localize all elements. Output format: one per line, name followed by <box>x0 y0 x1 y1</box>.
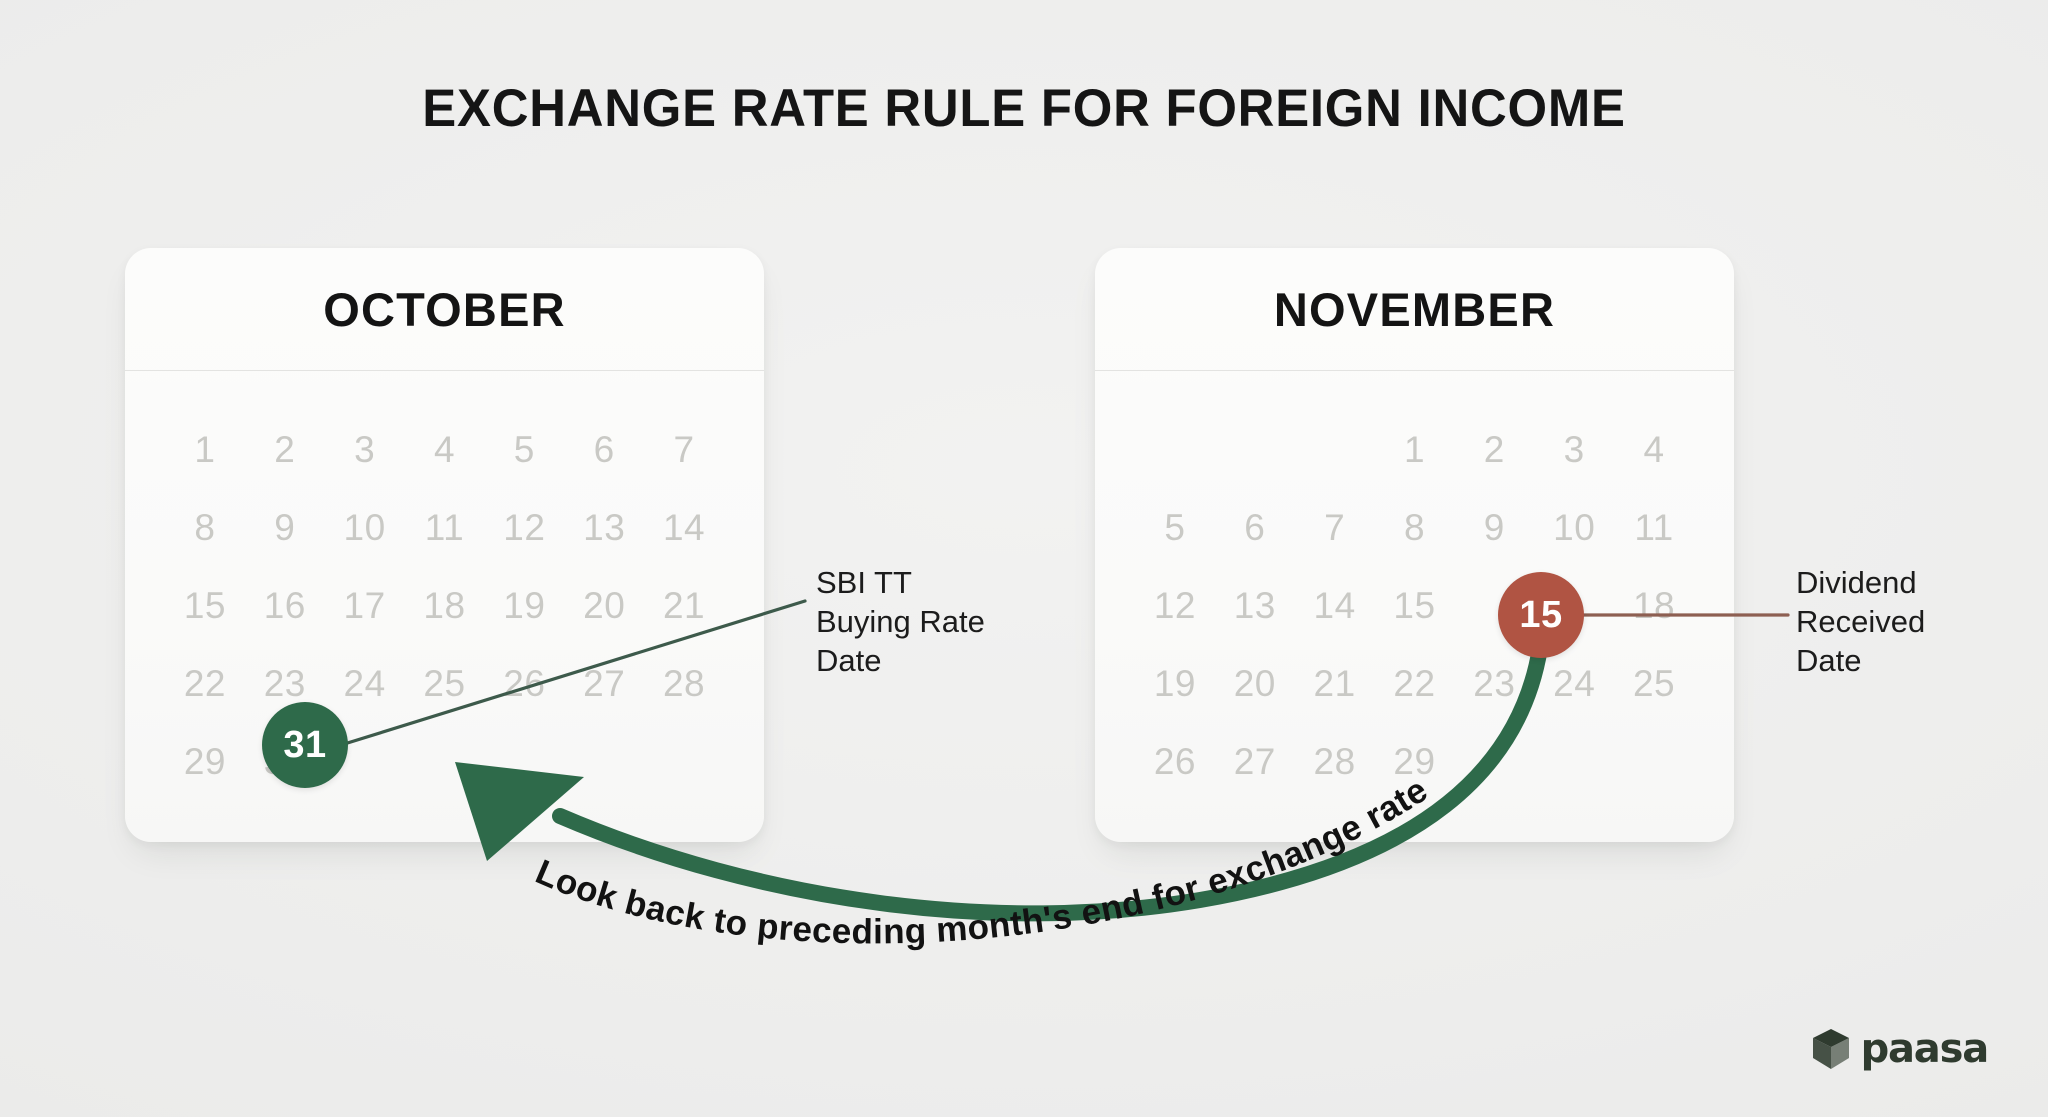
calendar-cell-october-22: 22 <box>166 645 244 723</box>
calendar-cell-october-12: 12 <box>485 489 563 567</box>
calendar-cell-october-11: 11 <box>405 489 483 567</box>
calendar-cell-november-12: 12 <box>1136 567 1214 645</box>
calendar-cell-october-15: 15 <box>166 567 244 645</box>
calendar-cell-empty <box>1296 411 1374 489</box>
calendar-cell-november-11: 11 <box>1615 489 1693 567</box>
calendar-cell-october-28: 28 <box>645 645 723 723</box>
calendar-cell-november-20: 20 <box>1216 645 1294 723</box>
calendar-cell-october-21: 21 <box>645 567 723 645</box>
calendar-cell-october-5: 5 <box>485 411 563 489</box>
cube-icon <box>1811 1027 1851 1071</box>
callout-label-sbi-tt-buying-rate-date: SBI TT Buying Rate Date <box>816 563 985 680</box>
calendar-grid-october: 1234567891011121314151617181920212223242… <box>125 371 764 801</box>
calendar-cell-november-28: 28 <box>1296 723 1374 801</box>
calendar-cell-october-10: 10 <box>326 489 404 567</box>
calendar-card-october: OCTOBER 12345678910111213141516171819202… <box>125 248 764 842</box>
calendar-cell-november-21: 21 <box>1296 645 1374 723</box>
calendar-cell-november-5: 5 <box>1136 489 1214 567</box>
month-label-october: OCTOBER <box>323 282 566 337</box>
calendar-cell-november-10: 10 <box>1535 489 1613 567</box>
calendar-cell-november-8: 8 <box>1375 489 1453 567</box>
calendar-header-october: OCTOBER <box>125 248 764 371</box>
calendar-cell-october-6: 6 <box>565 411 643 489</box>
calendar-cell-october-3: 3 <box>326 411 404 489</box>
calendar-cell-november-27: 27 <box>1216 723 1294 801</box>
calendar-cell-november-1: 1 <box>1375 411 1453 489</box>
calendar-cell-empty <box>1615 723 1693 801</box>
calendar-cell-empty <box>565 723 643 801</box>
calendar-cell-october-14: 14 <box>645 489 723 567</box>
calendar-cell-november-18: 18 <box>1615 567 1693 645</box>
paasa-logo: paasa <box>1811 1026 1988 1072</box>
calendar-cell-november-19: 19 <box>1136 645 1214 723</box>
page-title: EXCHANGE RATE RULE FOR FOREIGN INCOME <box>41 78 2007 139</box>
calendar-cell-empty <box>1535 723 1613 801</box>
calendar-cell-october-8: 8 <box>166 489 244 567</box>
calendar-cell-october-25: 25 <box>405 645 483 723</box>
calendar-cell-november-7: 7 <box>1296 489 1374 567</box>
calendar-cell-october-16: 16 <box>246 567 324 645</box>
calendar-cell-october-27: 27 <box>565 645 643 723</box>
calendar-header-november: NOVEMBER <box>1095 248 1734 371</box>
calendar-cell-november-13: 13 <box>1216 567 1294 645</box>
calendar-cell-empty <box>485 723 563 801</box>
calendar-card-november: NOVEMBER 1234567891011121314151617181920… <box>1095 248 1734 842</box>
calendar-cell-october-4: 4 <box>405 411 483 489</box>
calendar-cell-november-4: 4 <box>1615 411 1693 489</box>
calendar-cell-november-14: 14 <box>1296 567 1374 645</box>
calendar-cell-october-13: 13 <box>565 489 643 567</box>
calendar-cell-october-2: 2 <box>246 411 324 489</box>
calendar-cell-november-29: 29 <box>1375 723 1453 801</box>
calendar-cell-october-17: 17 <box>326 567 404 645</box>
calendar-cell-empty <box>1216 411 1294 489</box>
infographic-canvas: EXCHANGE RATE RULE FOR FOREIGN INCOME OC… <box>0 0 2048 1117</box>
calendar-cell-october-18: 18 <box>405 567 483 645</box>
calendar-cell-november-2: 2 <box>1455 411 1533 489</box>
calendar-cell-empty <box>1455 723 1533 801</box>
calendar-grid-november: 1234567891011121314151617181920212223242… <box>1095 371 1734 801</box>
calendar-cell-november-15: 15 <box>1375 567 1453 645</box>
calendar-cell-empty <box>645 723 723 801</box>
calendar-cell-october-7: 7 <box>645 411 723 489</box>
calendar-cell-october-20: 20 <box>565 567 643 645</box>
calendar-cell-november-9: 9 <box>1455 489 1533 567</box>
calendar-cell-october-1: 1 <box>166 411 244 489</box>
calendar-cell-november-25: 25 <box>1615 645 1693 723</box>
calendar-cell-october-26: 26 <box>485 645 563 723</box>
calendar-cell-november-3: 3 <box>1535 411 1613 489</box>
calendar-cell-november-26: 26 <box>1136 723 1214 801</box>
calendar-cell-november-6: 6 <box>1216 489 1294 567</box>
calendar-cell-october-24: 24 <box>326 645 404 723</box>
logo-wordmark: paasa <box>1861 1026 1988 1072</box>
calendar-cell-empty <box>1136 411 1214 489</box>
calendar-cell-empty <box>405 723 483 801</box>
calendar-cell-october-9: 9 <box>246 489 324 567</box>
calendar-cell-november-22: 22 <box>1375 645 1453 723</box>
calendar-cell-october-19: 19 <box>485 567 563 645</box>
callout-label-dividend-received-date: Dividend Received Date <box>1796 563 1925 680</box>
calendar-cell-november-23: 23 <box>1455 645 1533 723</box>
month-label-november: NOVEMBER <box>1274 282 1555 337</box>
calendar-cell-october-29: 29 <box>166 723 244 801</box>
highlight-day-october-31[interactable]: 31 <box>262 702 348 788</box>
highlight-day-november-15[interactable]: 15 <box>1498 572 1584 658</box>
